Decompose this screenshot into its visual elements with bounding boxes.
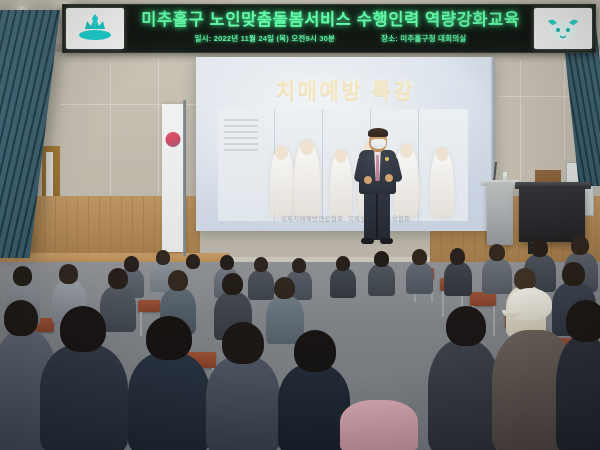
presenter-left-hand bbox=[364, 176, 372, 184]
audience-head bbox=[336, 256, 350, 271]
audience-head bbox=[562, 262, 585, 286]
wall-panel-seam bbox=[110, 62, 111, 198]
banner-location: 장소: 미추홀구청 대회의실 bbox=[381, 33, 466, 44]
audience-member bbox=[556, 336, 600, 450]
presenter-shoe bbox=[361, 238, 374, 244]
audience-head bbox=[222, 322, 264, 364]
upright-piano bbox=[519, 186, 585, 242]
audience-member bbox=[428, 340, 500, 450]
lecture-hall-photograph: 미추홀구 노인맞춤돌봄서비스 수행인력 역량강화교육 일시: 2022년 11월… bbox=[0, 0, 600, 450]
audience-head bbox=[274, 277, 295, 299]
banner-datetime: 일시: 2022년 11월 24일 (목) 오전9시 30분 bbox=[195, 33, 335, 44]
presenter bbox=[352, 128, 404, 246]
audience-head bbox=[59, 264, 78, 284]
lectern bbox=[487, 183, 513, 245]
audience-head bbox=[374, 251, 389, 267]
audience-head bbox=[294, 330, 336, 372]
audience-head bbox=[514, 268, 536, 290]
audience-head bbox=[108, 268, 128, 289]
audience-member bbox=[40, 344, 128, 450]
audience-head bbox=[186, 254, 200, 269]
banner-title: 미추홀구 노인맞춤돌봄서비스 수행인력 역량강화교육 bbox=[141, 12, 520, 29]
audience-member bbox=[406, 262, 433, 294]
audience-head bbox=[489, 244, 505, 261]
audience-head bbox=[168, 270, 188, 291]
banner-pole bbox=[183, 100, 186, 256]
audience-head bbox=[156, 250, 170, 265]
presenter-leg-gap bbox=[376, 190, 378, 238]
audience-head bbox=[412, 249, 427, 265]
slide-photo bbox=[218, 109, 468, 221]
michuhol-gu-emblem-icon bbox=[66, 8, 124, 49]
audience-member bbox=[340, 400, 418, 450]
presenter-shoe bbox=[380, 238, 393, 244]
projection-screen: 치매예방 특강 국제치매예방연합협회, 국제실버건강교육협회 bbox=[196, 57, 495, 231]
audience-member bbox=[368, 264, 395, 296]
wall-panel-seam bbox=[520, 60, 521, 200]
taegeuk-circle-icon bbox=[166, 132, 181, 147]
face-mask-icon bbox=[371, 139, 386, 149]
audience-member bbox=[248, 270, 274, 300]
audience-head bbox=[531, 239, 548, 257]
slide-footer-text: 국제치매예방연합협회, 국제실버건강교육협회 bbox=[210, 213, 481, 223]
audience-head bbox=[220, 255, 234, 270]
door-glass-panel bbox=[46, 152, 53, 198]
audience-head bbox=[450, 248, 465, 265]
audience-head bbox=[446, 306, 486, 346]
mascot-emblem-icon bbox=[534, 8, 592, 49]
audience-member bbox=[128, 352, 210, 450]
presenter-hair bbox=[368, 128, 388, 137]
presenter-right-hand bbox=[385, 174, 393, 182]
audience-head bbox=[146, 316, 192, 360]
banner-subline: 일시: 2022년 11월 24일 (목) 오전9시 30분 장소: 미추홀구청… bbox=[195, 33, 467, 44]
audience-member bbox=[444, 262, 472, 296]
audience-head bbox=[566, 300, 600, 342]
slide-title: 치매예방 특강 bbox=[196, 75, 495, 105]
audience-member bbox=[206, 356, 280, 450]
audience-head bbox=[13, 266, 32, 286]
audience-member bbox=[330, 268, 356, 298]
audience-head bbox=[292, 258, 306, 273]
led-event-banner: 미추홀구 노인맞춤돌봄서비스 수행인력 역량강화교육 일시: 2022년 11월… bbox=[62, 4, 596, 53]
audience-head bbox=[4, 300, 38, 336]
audience-head bbox=[254, 257, 268, 272]
korean-flag-banner bbox=[162, 104, 184, 252]
audience-member bbox=[482, 258, 512, 294]
wall-panel-seam bbox=[564, 60, 565, 160]
audience-head bbox=[571, 236, 589, 255]
audience-head bbox=[222, 273, 243, 295]
audience-head bbox=[60, 306, 106, 352]
audience-head bbox=[124, 256, 139, 272]
banner-text-block: 미추홀구 노인맞춤돌봄서비스 수행인력 역량강화교육 일시: 2022년 11월… bbox=[127, 5, 534, 52]
wall-panel-seam bbox=[158, 58, 159, 198]
slide-photo-text bbox=[224, 119, 258, 153]
